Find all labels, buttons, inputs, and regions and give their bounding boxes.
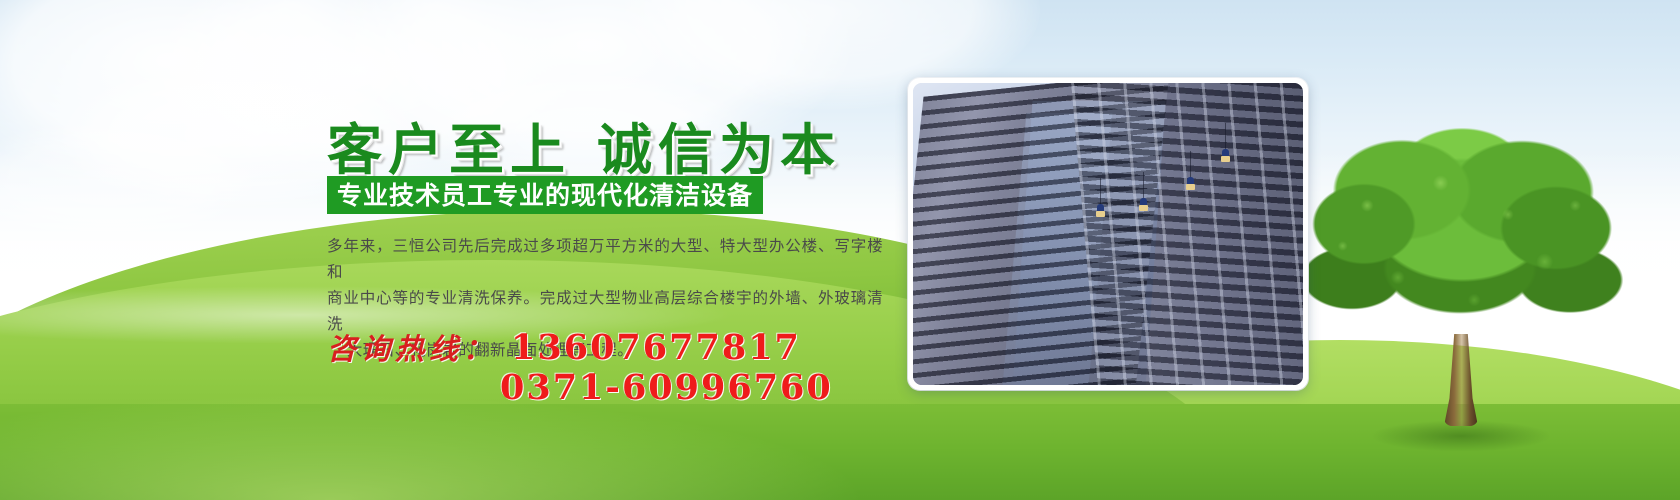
window-cleaner-worker	[1186, 177, 1195, 192]
tree-canopy-texture	[1306, 138, 1612, 363]
window-cleaner-worker	[1096, 204, 1105, 219]
headline-part-1: 客户至上	[327, 117, 571, 182]
tagline-text: 专业技术员工专业的现代化清洁设备	[337, 183, 753, 208]
building-photo-frame	[908, 78, 1308, 390]
hotline-label: 咨询热线：	[327, 326, 497, 368]
promo-banner: 客户至上诚信为本 专业技术员工专业的现代化清洁设备 多年来，三恒公司先后完成过多…	[0, 0, 1680, 500]
description-line-1: 多年来，三恒公司先后完成过多项超万平方米的大型、特大型办公楼、写字楼和	[327, 234, 883, 286]
tree-illustration	[1294, 128, 1624, 458]
hotline-mobile-number[interactable]: 13607677817	[511, 327, 801, 368]
hotline-landline-number[interactable]: 0371-60996760	[500, 367, 833, 408]
building-photo	[913, 83, 1303, 385]
window-cleaner-worker	[1139, 198, 1148, 213]
banner-headline: 客户至上诚信为本	[327, 105, 841, 185]
building-mullions	[1070, 83, 1303, 385]
hotline-row: 咨询热线： 13607677817	[327, 326, 801, 368]
tagline-bar: 专业技术员工专业的现代化清洁设备	[327, 176, 763, 214]
tree-canopy	[1294, 128, 1624, 378]
window-cleaner-worker	[1221, 149, 1230, 164]
headline-part-2: 诚信为本	[597, 117, 841, 182]
